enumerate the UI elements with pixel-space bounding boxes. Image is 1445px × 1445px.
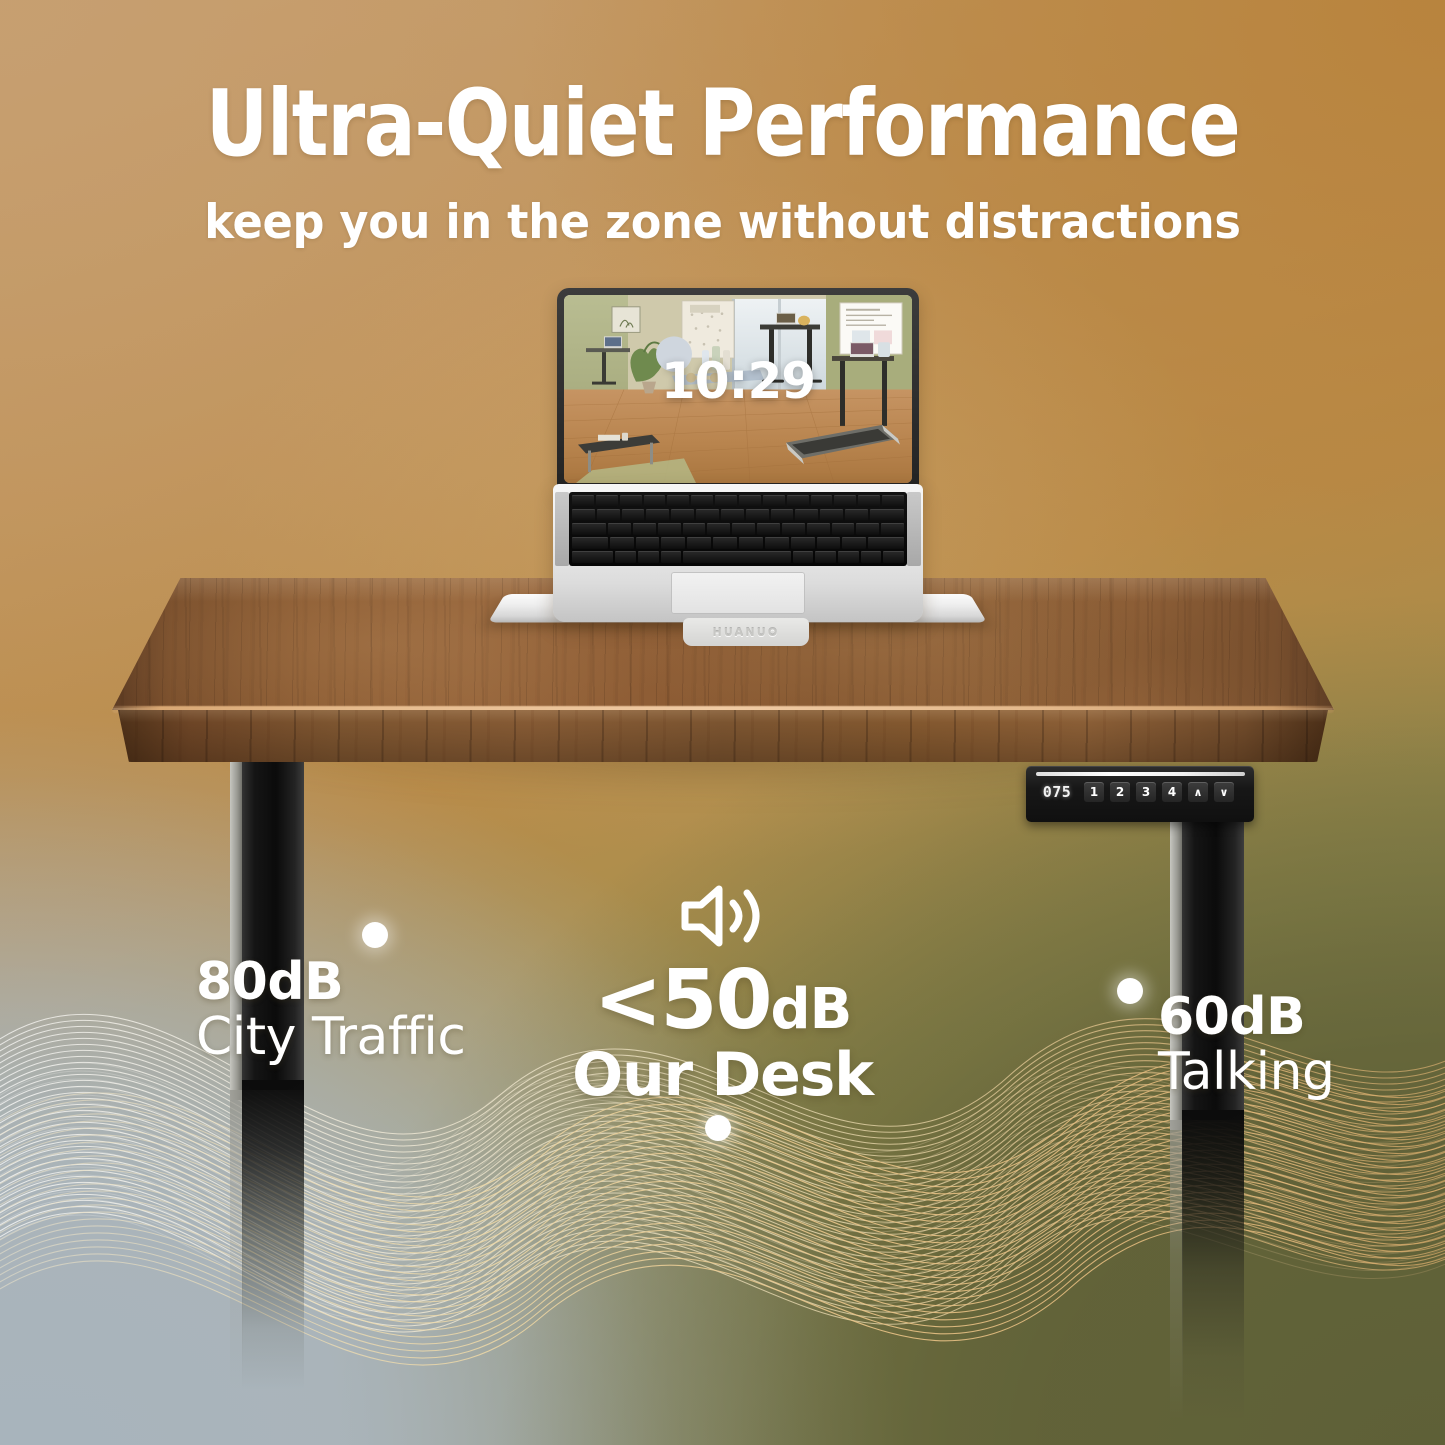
product-marketing-image: Ultra-Quiet Performance keep you in the … [0,0,1445,1445]
preset-button-4[interactable]: 4 [1162,782,1182,802]
screen-clock: 10:29 [564,352,912,410]
preset-button-3[interactable]: 3 [1136,782,1156,802]
laptop-on-desk: 10:29 [505,288,970,658]
speaker-grille-right [907,492,921,566]
marker-dot-city-traffic [362,922,388,948]
keyboard-row-bottom [572,551,904,563]
control-panel-row: 075 1 2 3 4 ∧ ∨ [1036,782,1245,802]
speaker-grille-left [555,492,569,566]
keyboard-row-home [572,537,904,549]
laptop-screen: 10:29 [564,295,912,483]
lower-down-button[interactable]: ∨ [1214,782,1234,802]
keyboard-row-numbers [572,509,904,521]
speaker-icon [677,880,769,952]
raise-up-button[interactable]: ∧ [1188,782,1208,802]
marker-dot-our-desk [705,1115,731,1141]
laptop-base [553,484,923,622]
brand-label: HUANUO [712,626,779,639]
laptop-trackpad[interactable] [671,572,805,614]
laptop-keyboard[interactable] [569,492,907,566]
page-subtitle: keep you in the zone without distraction… [36,195,1409,250]
our-desk-value: <50dB [0,960,1445,1042]
our-desk-unit: dB [771,977,852,1042]
keyboard-row-function [572,495,904,507]
desk-control-panel[interactable]: 075 1 2 3 4 ∧ ∨ [1026,766,1254,822]
page-title: Ultra-Quiet Performance [51,76,1395,173]
height-display: 075 [1036,783,1078,801]
preset-button-2[interactable]: 2 [1110,782,1130,802]
preset-button-1[interactable]: 1 [1084,782,1104,802]
headline-block: Ultra-Quiet Performance keep you in the … [0,76,1445,250]
keyboard-row-top [572,523,904,535]
our-desk-source: Our Desk [0,1042,1445,1109]
laptop-lid: 10:29 [557,288,919,493]
our-desk-prefix: < [594,953,661,1048]
our-desk-number: 50 [660,953,770,1048]
control-panel-led-strip [1036,772,1245,776]
laptop-stand-brand-tab: HUANUO [683,618,809,646]
noise-label-our-desk: <50dB Our Desk [0,880,1445,1109]
marker-dot-talking [1117,978,1143,1004]
